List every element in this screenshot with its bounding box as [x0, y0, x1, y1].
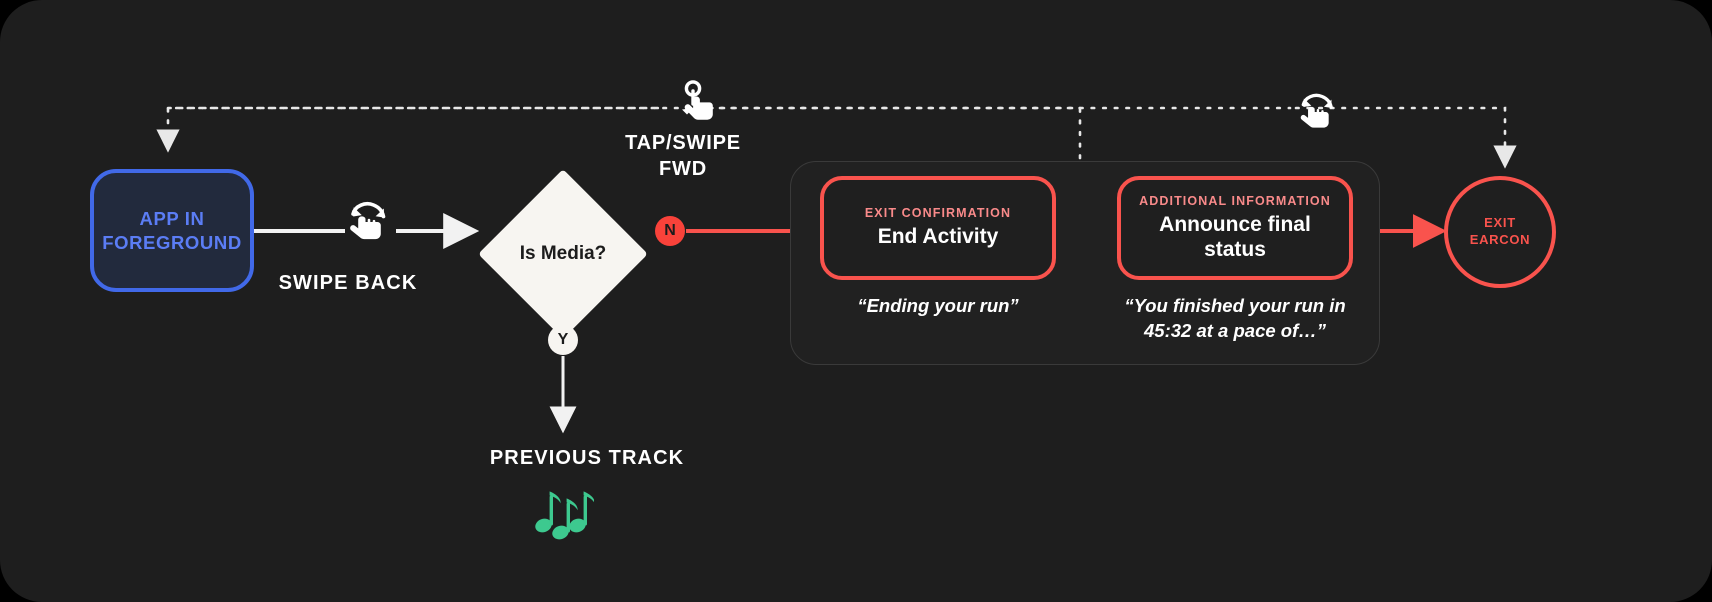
- label-tap-swipe-fwd-line2: FWD: [659, 158, 707, 180]
- label-tap-swipe-fwd: TAP/SWIPE FWD: [588, 130, 778, 183]
- badge-no: N: [655, 216, 685, 246]
- step-card-title: Announce final status: [1135, 212, 1335, 262]
- diagram-canvas: APP IN FOREGROUND SWIPE BACK Is Media? N…: [0, 0, 1712, 602]
- step-card-exit-confirmation[interactable]: EXIT CONFIRMATION End Activity: [820, 176, 1056, 280]
- node-app-label: APP IN FOREGROUND: [102, 207, 242, 254]
- step-card-kicker: EXIT CONFIRMATION: [865, 206, 1011, 220]
- tap-swipe-gesture-icon: [672, 79, 720, 134]
- badge-yes: Y: [548, 325, 578, 355]
- decision-label: Is Media?: [478, 169, 648, 339]
- step-card-additional-information[interactable]: ADDITIONAL INFORMATION Announce final st…: [1117, 176, 1353, 280]
- node-exit-earcon-line1: EXIT: [1484, 215, 1516, 230]
- node-exit-earcon[interactable]: EXIT EARCON: [1444, 176, 1556, 288]
- label-swipe-back: SWIPE BACK: [238, 272, 458, 295]
- step-card-title: End Activity: [878, 224, 999, 249]
- node-exit-earcon-label: EXIT EARCON: [1470, 215, 1531, 249]
- node-app-in-foreground[interactable]: APP IN FOREGROUND: [90, 169, 254, 292]
- step-caption-exit-confirmation: “Ending your run”: [820, 294, 1056, 319]
- step-caption-additional-information: “You finished your run in 45:32 at a pac…: [1105, 294, 1365, 343]
- node-is-media-decision[interactable]: Is Media?: [478, 169, 648, 339]
- swipe-back-gesture-icon-return: [1296, 90, 1338, 139]
- label-previous-track: PREVIOUS TRACK: [442, 447, 732, 470]
- label-tap-swipe-fwd-line1: TAP/SWIPE: [625, 132, 741, 154]
- node-app-label-line1: APP IN: [140, 208, 205, 229]
- node-exit-earcon-line2: EARCON: [1470, 232, 1531, 247]
- step-card-kicker: ADDITIONAL INFORMATION: [1139, 194, 1331, 208]
- music-notes-icon: [534, 489, 594, 546]
- swipe-back-gesture-icon: [345, 198, 391, 251]
- node-app-label-line2: FOREGROUND: [102, 232, 242, 253]
